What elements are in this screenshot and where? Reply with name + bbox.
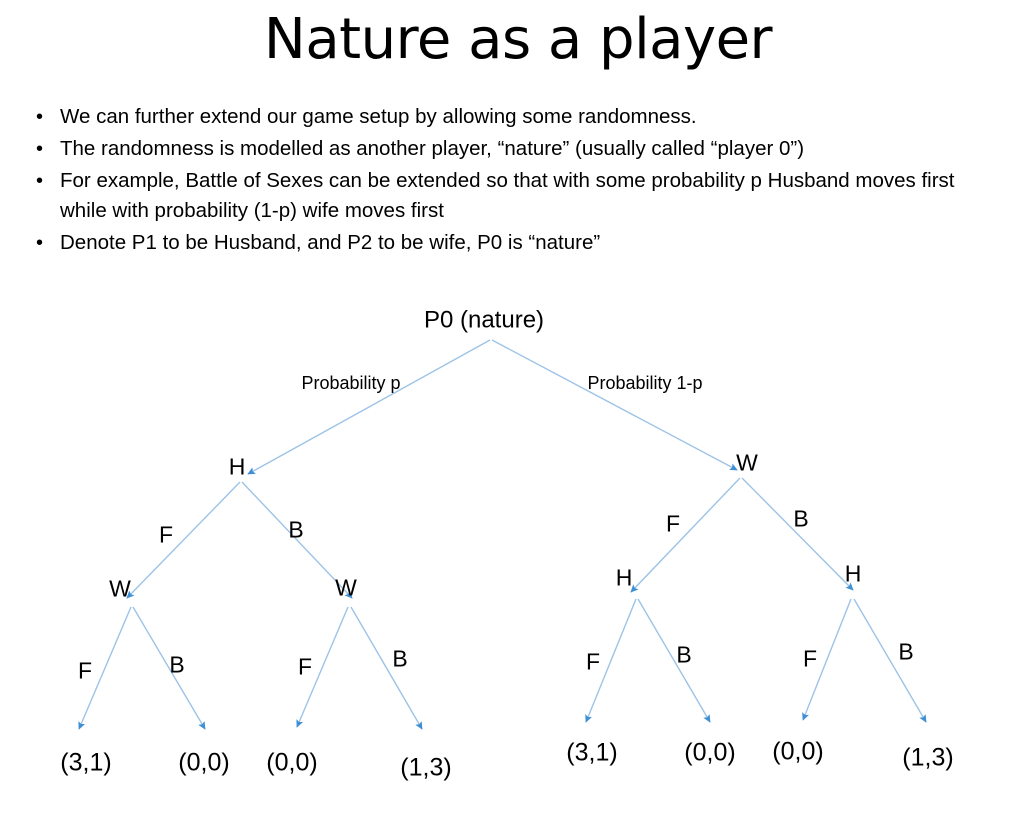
tree-node-level1: H <box>229 456 246 479</box>
edge-label-action: B <box>793 508 808 531</box>
edge-label-action: F <box>666 513 680 536</box>
edge-label-probability: Probability 1-p <box>587 374 702 392</box>
edge-label-action: B <box>169 654 184 677</box>
edge-label-action: F <box>78 660 92 683</box>
tree-leaf-payoff: (3,1) <box>60 751 111 776</box>
tree-node-level2: W <box>335 577 357 600</box>
tree-leaf-payoff: (0,0) <box>178 751 229 776</box>
edge-label-action: F <box>803 648 817 671</box>
tree-edge <box>854 599 926 722</box>
tree-edges <box>79 340 926 729</box>
edge-label-action: B <box>288 519 303 542</box>
tree-leaf-payoff: (1,3) <box>400 756 451 781</box>
tree-edge <box>631 478 740 592</box>
tree-edge <box>351 607 422 729</box>
tree-node-level1: W <box>736 452 758 475</box>
tree-edge <box>248 340 490 474</box>
tree-leaf-payoff: (1,3) <box>902 746 953 771</box>
edge-label-action: B <box>392 648 407 671</box>
edge-label-action: B <box>676 644 691 667</box>
tree-node-level2: H <box>845 563 862 586</box>
edge-label-probability: Probability p <box>301 374 400 392</box>
tree-node-level2: H <box>616 567 633 590</box>
edge-label-action: F <box>159 524 173 547</box>
edge-label-action: F <box>586 651 600 674</box>
tree-edge <box>492 340 737 470</box>
tree-edge <box>742 478 853 590</box>
edge-label-action: B <box>898 641 913 664</box>
tree-edge <box>127 482 240 598</box>
edge-label-action: F <box>298 656 312 679</box>
tree-node-root: P0 (nature) <box>424 309 544 332</box>
slide-canvas: Nature as a player • We can further exte… <box>0 0 1036 835</box>
tree-node-level2: W <box>109 578 131 601</box>
tree-leaf-payoff: (0,0) <box>266 751 317 776</box>
tree-edge <box>638 599 710 722</box>
game-tree-diagram <box>0 0 1036 835</box>
tree-leaf-payoff: (0,0) <box>684 741 735 766</box>
tree-leaf-payoff: (3,1) <box>566 741 617 766</box>
tree-leaf-payoff: (0,0) <box>772 740 823 765</box>
